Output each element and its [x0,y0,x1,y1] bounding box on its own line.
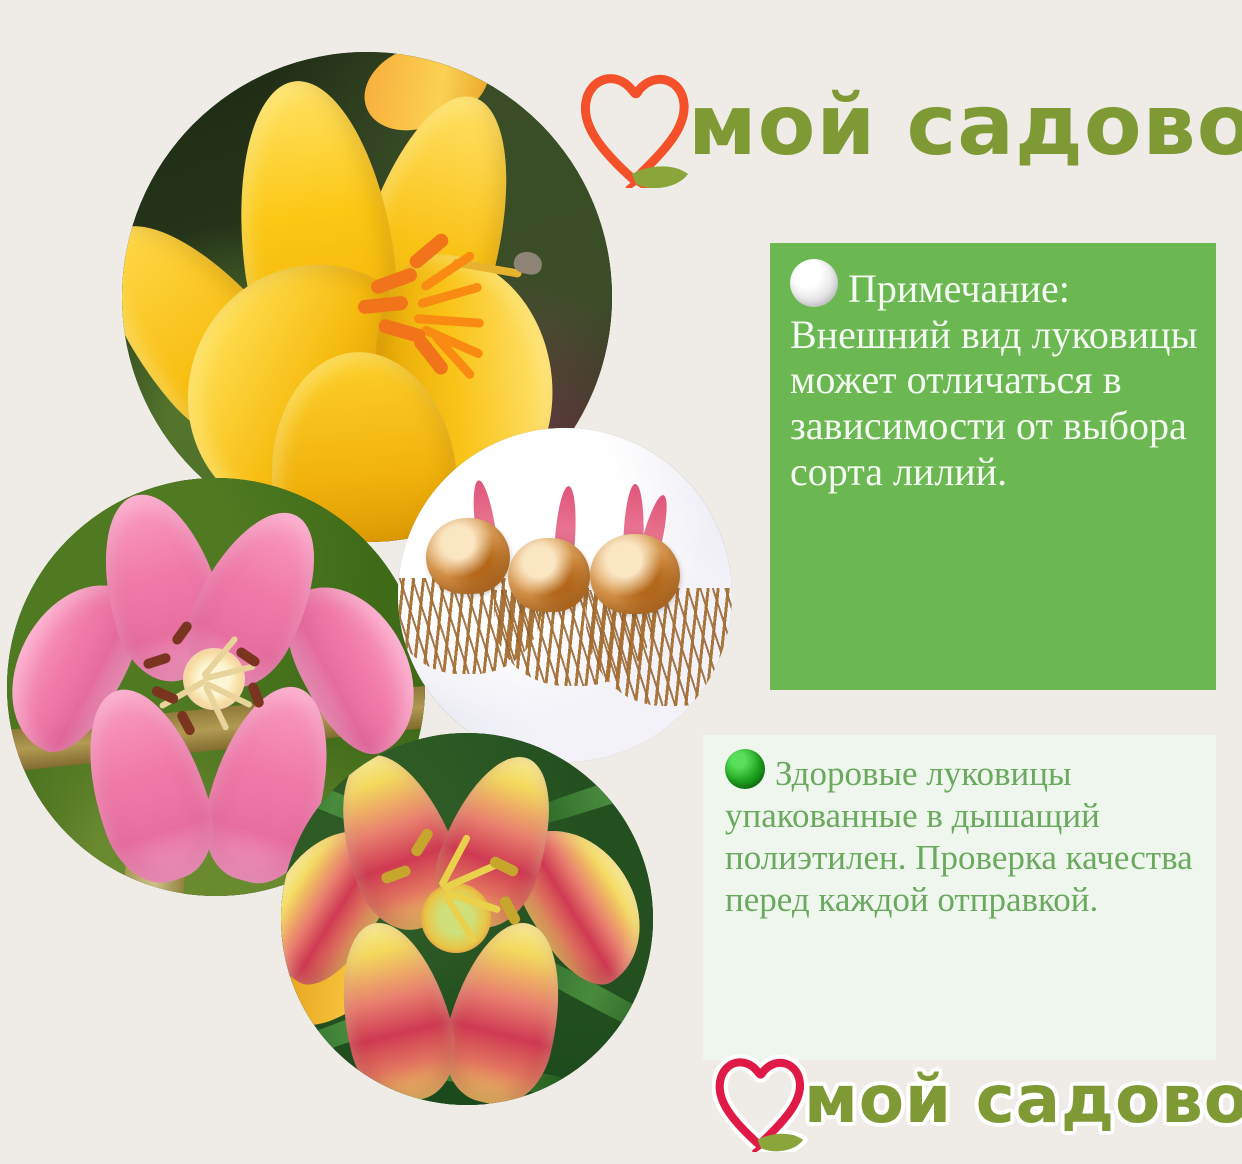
leaf-blade [531,760,653,827]
brand-logo-watermark[interactable]: мой садовод [712,1048,1242,1152]
note-secondary-body: Здоровые луковицы упакованные в дышащий … [725,749,1202,921]
green-circle-bullet-icon [725,749,765,789]
note-secondary: Здоровые луковицы упакованные в дышащий … [703,735,1216,1060]
white-circle-bullet-icon [790,259,838,307]
note-primary: Примечание: Внешний вид луковицы может о… [770,243,1216,690]
brand-wordmark: мой садовод [688,83,1242,167]
note-primary-body: Примечание: Внешний вид луковицы может о… [790,259,1198,494]
poster-canvas: мой садовод Примечание: Внешний вид луко… [0,0,1242,1164]
bulb [426,518,510,594]
brand-logo-top[interactable]: мой садовод [576,62,1242,188]
note-secondary-text: Здоровые луковицы упакованные в дышащий … [725,754,1193,919]
heart-outline-icon [712,1048,808,1152]
bicolor-lily-background [281,733,653,1105]
brand-wordmark: мой садовод [804,1067,1242,1133]
heart-outline-icon [576,62,694,188]
bulb [508,538,590,612]
bulbs-cloth-background [398,428,732,762]
photo-lily-bulbs [398,428,732,762]
bulb [590,534,680,614]
photo-bicolor-lily [281,733,653,1105]
note-primary-text: Примечание: Внешний вид луковицы может о… [790,266,1197,493]
